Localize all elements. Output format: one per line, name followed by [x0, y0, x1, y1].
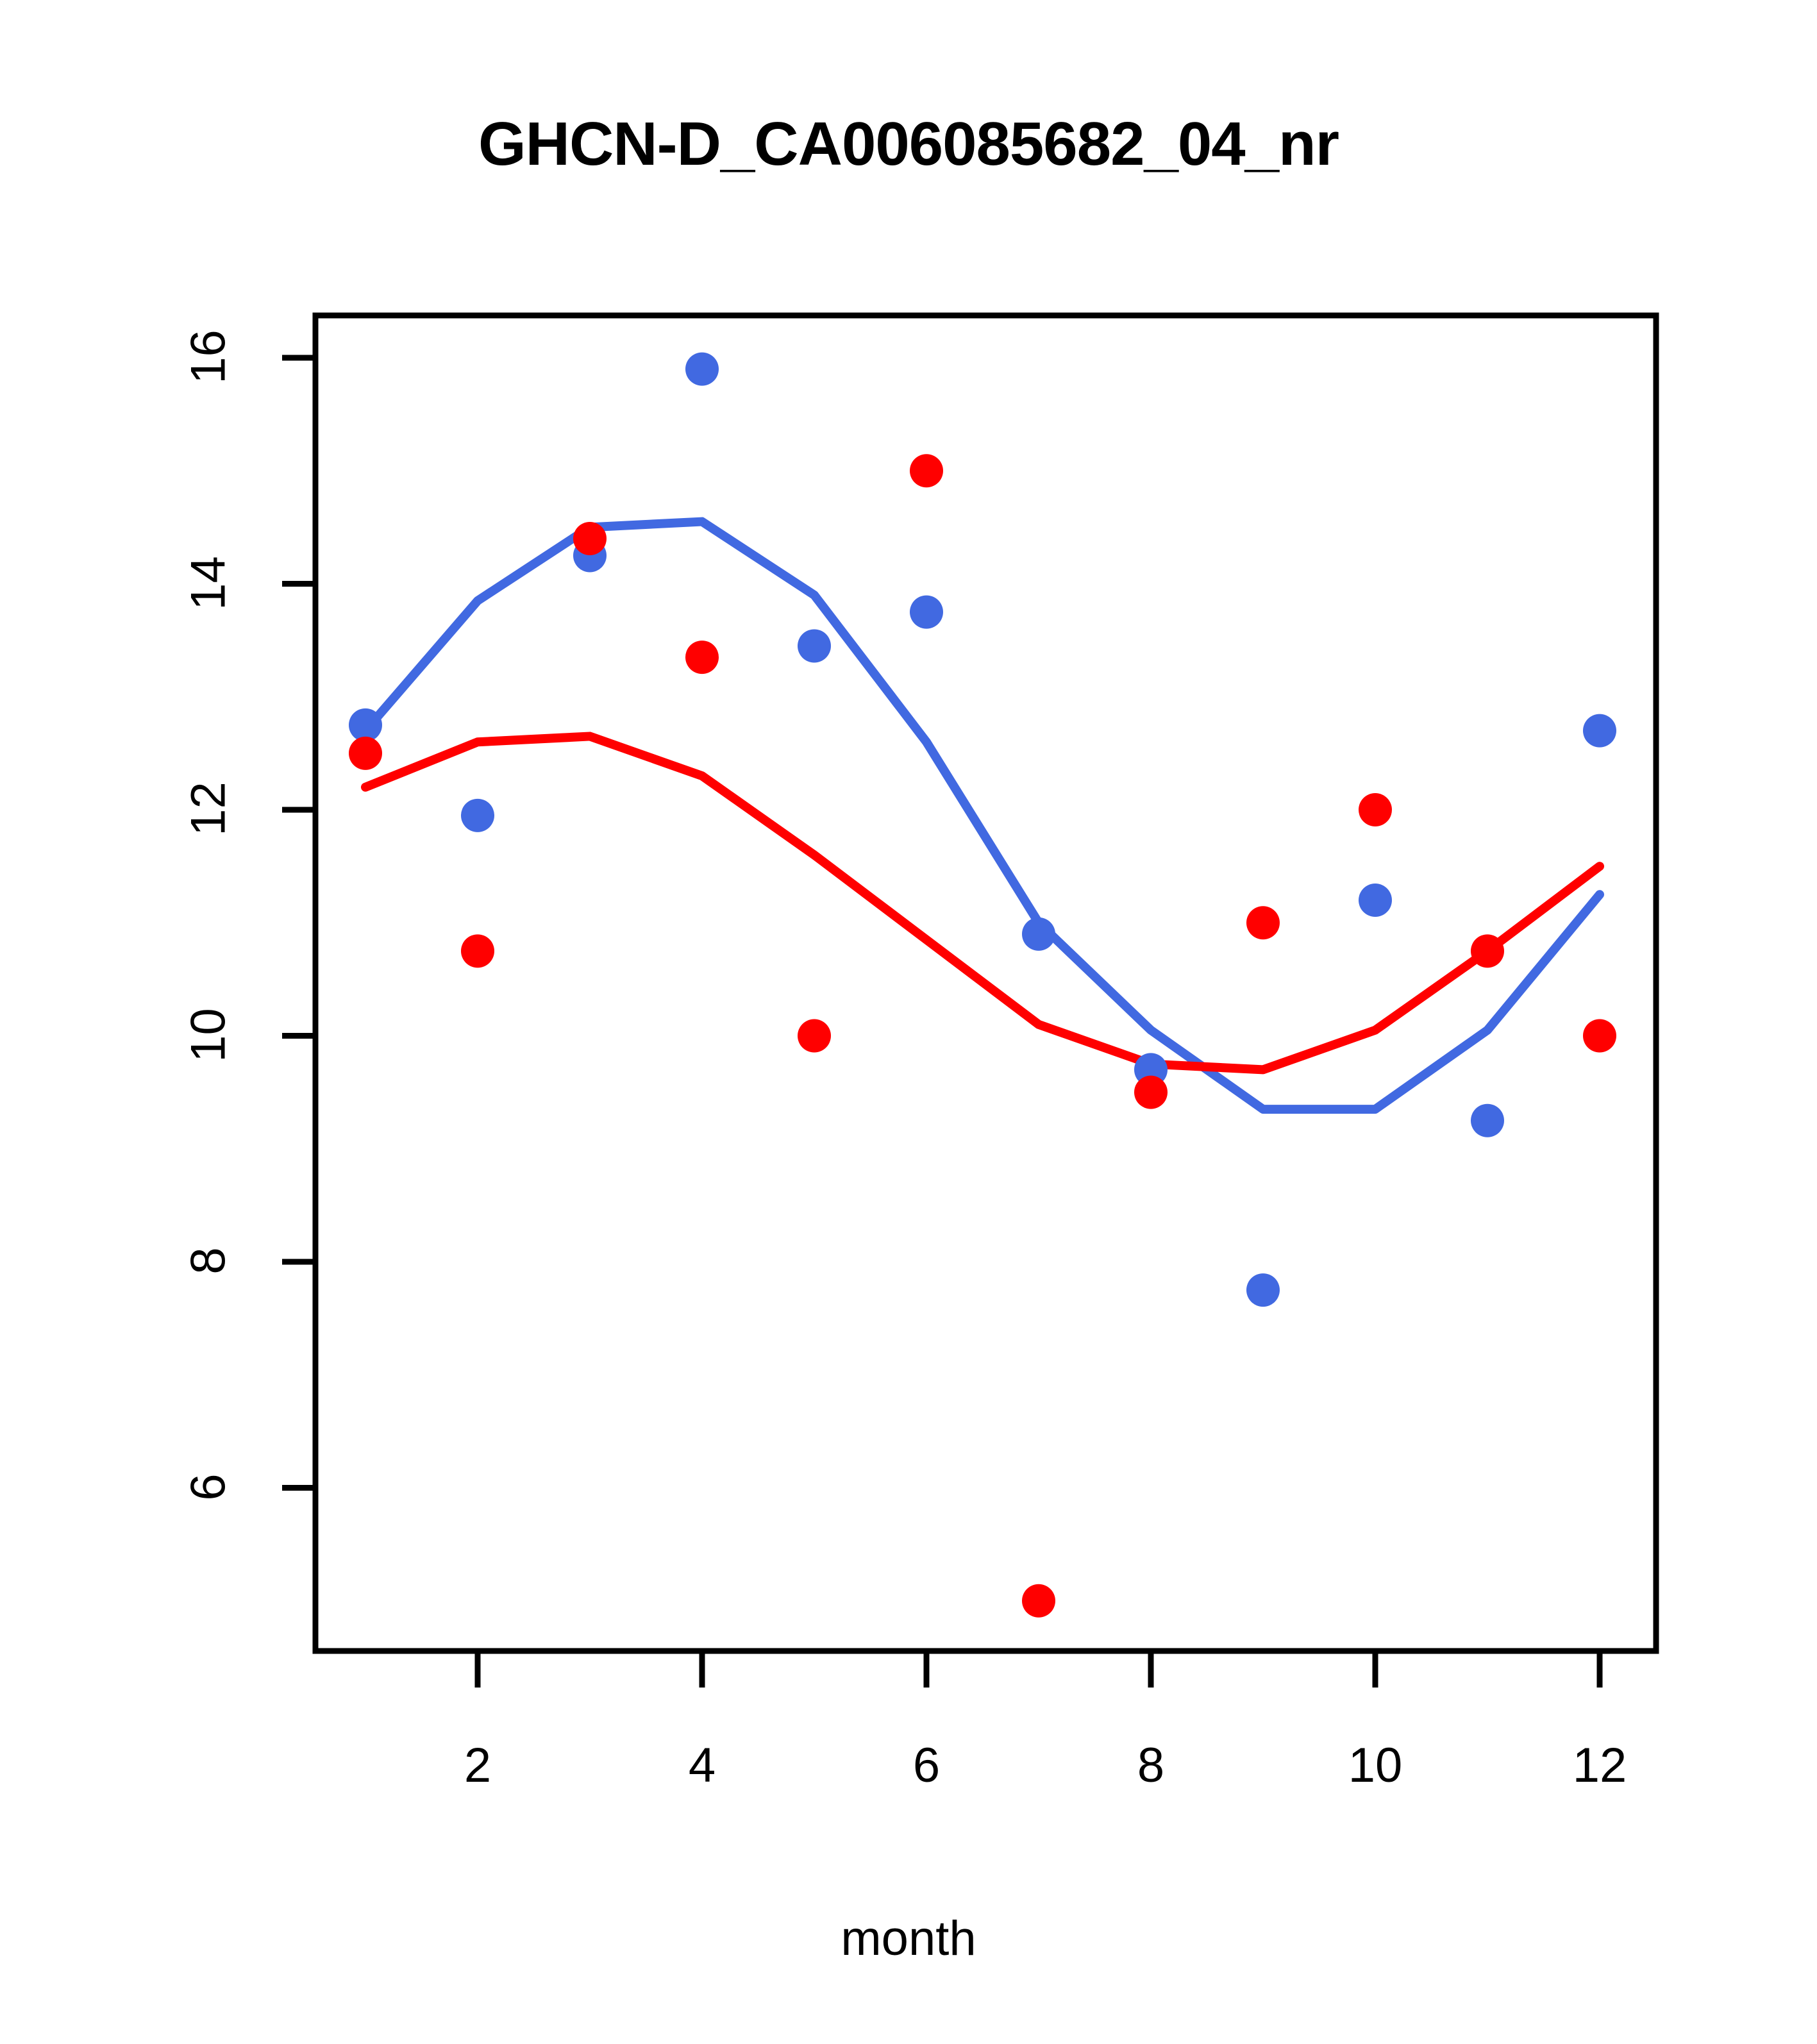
data-point-red-points-1	[349, 737, 382, 770]
y-tick-label-6: 6	[181, 1423, 237, 1551]
y-tick-label-12: 12	[181, 745, 237, 873]
data-point-blue-points-5	[798, 629, 831, 662]
series-line-blue-line	[365, 522, 1600, 1110]
x-tick-label-6: 6	[850, 1738, 1003, 1793]
data-point-red-points-4	[685, 641, 719, 674]
data-point-red-points-10	[1359, 793, 1392, 826]
data-point-red-points-12	[1583, 1019, 1616, 1053]
data-point-blue-points-7	[1022, 917, 1055, 951]
x-axis-ticks	[478, 1651, 1600, 1688]
data-point-red-points-7	[1022, 1584, 1055, 1618]
data-point-blue-points-9	[1246, 1273, 1280, 1307]
x-tick-label-12: 12	[1523, 1738, 1677, 1793]
data-point-red-points-3	[573, 522, 607, 555]
data-point-blue-points-10	[1359, 884, 1392, 917]
data-point-red-points-11	[1471, 934, 1504, 968]
y-tick-label-16: 16	[181, 293, 237, 421]
y-tick-label-8: 8	[181, 1197, 237, 1325]
x-tick-label-8: 8	[1074, 1738, 1228, 1793]
trend-lines	[365, 522, 1600, 1110]
series-line-red-line	[365, 736, 1600, 1069]
data-point-blue-points-11	[1471, 1104, 1504, 1137]
x-tick-label-4: 4	[625, 1738, 779, 1793]
chart-container: GHCN-D_CA006085682_04_nr 6810121416 2468…	[0, 0, 1817, 2044]
x-tick-label-10: 10	[1298, 1738, 1452, 1793]
y-tick-label-10: 10	[181, 971, 237, 1099]
x-tick-label-2: 2	[401, 1738, 555, 1793]
y-axis-ticks	[282, 358, 315, 1488]
data-point-blue-points-6	[910, 596, 943, 629]
data-point-blue-points-12	[1583, 714, 1616, 748]
data-point-red-points-5	[798, 1019, 831, 1053]
y-tick-label-14: 14	[181, 519, 237, 647]
x-axis-title: month	[0, 1911, 1817, 1966]
data-point-red-points-6	[910, 454, 943, 487]
data-point-red-points-2	[461, 934, 494, 968]
data-point-blue-points-4	[685, 353, 719, 386]
data-point-blue-points-2	[461, 799, 494, 832]
data-point-red-points-9	[1246, 906, 1280, 939]
data-point-red-points-8	[1134, 1076, 1168, 1109]
